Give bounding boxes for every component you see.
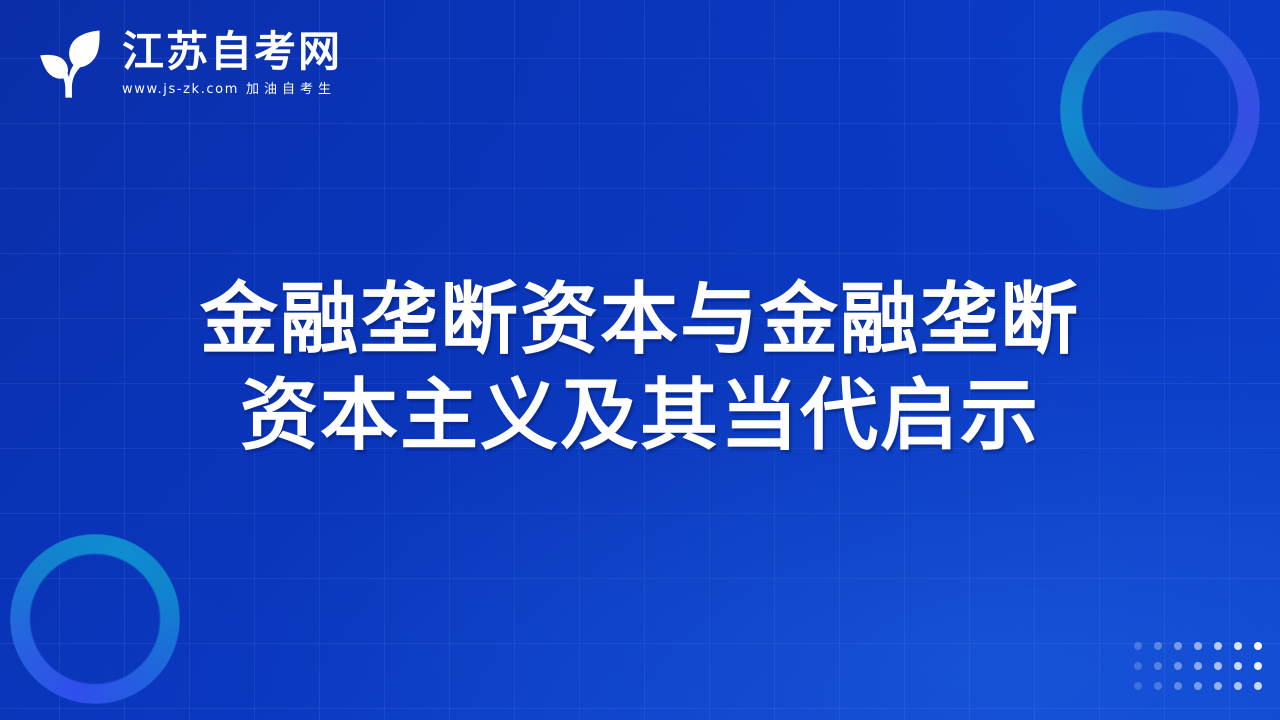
dot-matrix-dot [1154, 642, 1162, 650]
dot-matrix-dot [1134, 682, 1142, 690]
site-logo: 江苏自考网 www.js-zk.com加油自考生 [36, 26, 342, 100]
dot-matrix-dot [1134, 662, 1142, 670]
dot-matrix-dot [1214, 682, 1222, 690]
sprout-icon [36, 26, 108, 100]
decorative-ring-bottom-left [10, 534, 180, 704]
dot-matrix-dot [1214, 662, 1222, 670]
dot-matrix-dot [1154, 662, 1162, 670]
dot-matrix-dot [1234, 682, 1242, 690]
title-line-1: 金融垄断资本与金融垄断 [90, 272, 1190, 368]
tagline-slogan: 加油自考生 [246, 82, 336, 97]
tagline-url: www.js-zk.com [122, 82, 239, 97]
dot-matrix-dot [1214, 642, 1222, 650]
slide-canvas: 江苏自考网 www.js-zk.com加油自考生 金融垄断资本与金融垄断 资本主… [0, 0, 1280, 720]
decorative-ring-top-right [1060, 10, 1260, 210]
dot-matrix-dot [1194, 682, 1202, 690]
dot-matrix-dot [1254, 662, 1262, 670]
dot-matrix-dot [1194, 642, 1202, 650]
dot-matrix-dot [1174, 642, 1182, 650]
logo-text: 江苏自考网 www.js-zk.com加油自考生 [122, 29, 342, 98]
dot-matrix-dot [1254, 682, 1262, 690]
dot-matrix-dot [1234, 642, 1242, 650]
site-name: 江苏自考网 [122, 29, 342, 75]
dot-matrix-dot [1174, 662, 1182, 670]
dot-matrix-dot [1234, 662, 1242, 670]
dot-matrix-dot [1194, 662, 1202, 670]
dot-matrix-dot [1154, 682, 1162, 690]
page-title: 金融垄断资本与金融垄断 资本主义及其当代启示 [0, 272, 1280, 464]
dot-matrix-dot [1174, 682, 1182, 690]
site-tagline: www.js-zk.com加油自考生 [122, 82, 342, 98]
dot-matrix-dot [1254, 642, 1262, 650]
dot-matrix-dot [1134, 642, 1142, 650]
title-line-2: 资本主义及其当代启示 [90, 368, 1190, 464]
dot-matrix-decoration [1128, 636, 1268, 696]
